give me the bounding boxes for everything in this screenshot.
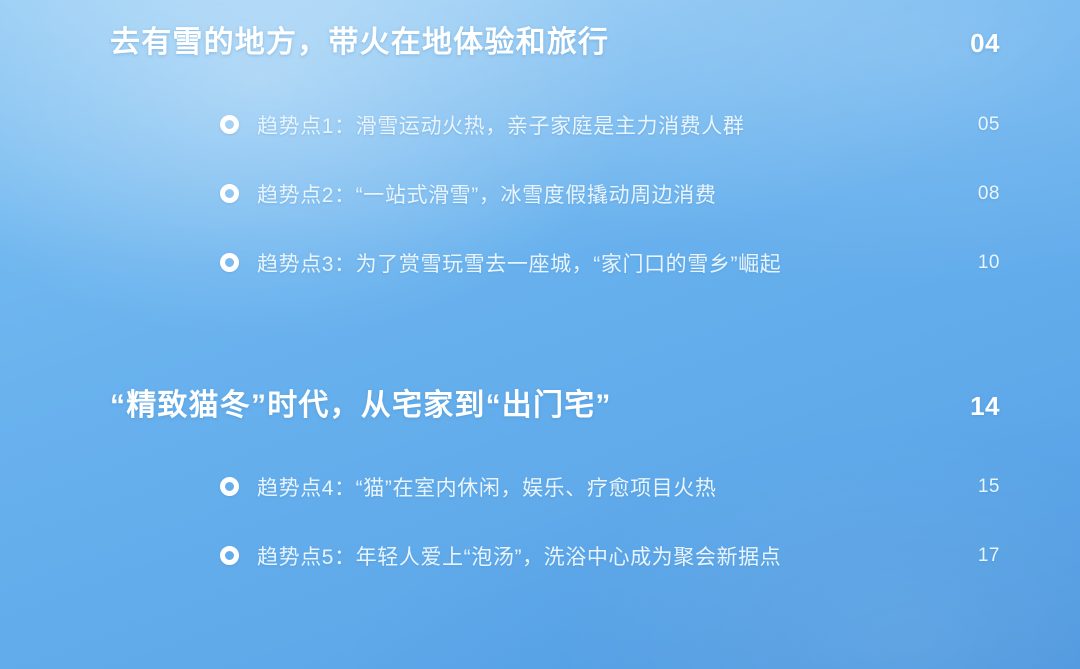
subitem-page-number: 10 [948,252,1000,274]
list-item[interactable]: 趋势点3：为了赏雪玩雪去一座城，“家门口的雪乡”崛起 10 [110,228,1000,297]
subitem-label: 趋势点3：为了赏雪玩雪去一座城，“家门口的雪乡”崛起 [257,248,781,278]
section-2-page-number: 14 [948,391,1000,422]
section-1-header[interactable]: 去有雪的地方，带火在地体验和旅行 04 [110,17,1000,61]
ring-icon [220,115,239,134]
subitem-page-number: 05 [948,114,1000,136]
section-2-subitem-list: 趋势点4：“猫”在室内休闲，娱乐、疗愈项目火热 15 趋势点5：年轻人爱上“泡汤… [110,452,1000,590]
subitem-left-group: 趋势点2：“一站式滑雪”，冰雪度假撬动周边消费 [220,179,716,209]
subitem-left-group: 趋势点3：为了赏雪玩雪去一座城，“家门口的雪乡”崛起 [220,248,781,278]
subitem-label: 趋势点4：“猫”在室内休闲，娱乐、疗愈项目火热 [257,472,716,502]
section-1-subitem-list: 趋势点1：滑雪运动火热，亲子家庭是主力消费人群 05 趋势点2：“一站式滑雪”，… [110,90,1000,297]
section-1-title: 去有雪的地方，带火在地体验和旅行 [110,17,609,61]
subitem-label: 趋势点2：“一站式滑雪”，冰雪度假撬动周边消费 [257,179,716,209]
subitem-page-number: 15 [948,476,1000,498]
subitem-label: 趋势点5：年轻人爱上“泡汤”，洗浴中心成为聚会新据点 [257,541,781,571]
ring-icon [220,184,239,203]
list-item[interactable]: 趋势点2：“一站式滑雪”，冰雪度假撬动周边消费 08 [110,159,1000,228]
subitem-left-group: 趋势点1：滑雪运动火热，亲子家庭是主力消费人群 [220,110,744,140]
subitem-page-number: 08 [948,183,1000,205]
ring-icon [220,546,239,565]
toc-section-2: “精致猫冬”时代，从宅家到“出门宅” 14 趋势点4：“猫”在室内休闲，娱乐、疗… [110,297,1000,590]
section-2-header[interactable]: “精致猫冬”时代，从宅家到“出门宅” 14 [110,380,1000,424]
subitem-left-group: 趋势点5：年轻人爱上“泡汤”，洗浴中心成为聚会新据点 [220,541,781,571]
subitem-left-group: 趋势点4：“猫”在室内休闲，娱乐、疗愈项目火热 [220,472,716,502]
ring-icon [220,253,239,272]
subitem-page-number: 17 [948,545,1000,567]
table-of-contents-page: 去有雪的地方，带火在地体验和旅行 04 趋势点1：滑雪运动火热，亲子家庭是主力消… [0,0,1080,669]
list-item[interactable]: 趋势点5：年轻人爱上“泡汤”，洗浴中心成为聚会新据点 17 [110,521,1000,590]
toc-section-1: 去有雪的地方，带火在地体验和旅行 04 趋势点1：滑雪运动火热，亲子家庭是主力消… [110,0,1000,297]
section-1-page-number: 04 [948,28,1000,59]
toc-section-3: 冬日餐桌升温，吃下一口“热辣滚烫”的情绪 21 [110,590,1000,669]
list-item[interactable]: 趋势点4：“猫”在室内休闲，娱乐、疗愈项目火热 15 [110,452,1000,521]
section-2-title: “精致猫冬”时代，从宅家到“出门宅” [110,380,612,424]
ring-icon [220,477,239,496]
subitem-label: 趋势点1：滑雪运动火热，亲子家庭是主力消费人群 [257,110,744,140]
toc-content: 去有雪的地方，带火在地体验和旅行 04 趋势点1：滑雪运动火热，亲子家庭是主力消… [0,0,1080,669]
list-item[interactable]: 趋势点1：滑雪运动火热，亲子家庭是主力消费人群 05 [110,90,1000,159]
